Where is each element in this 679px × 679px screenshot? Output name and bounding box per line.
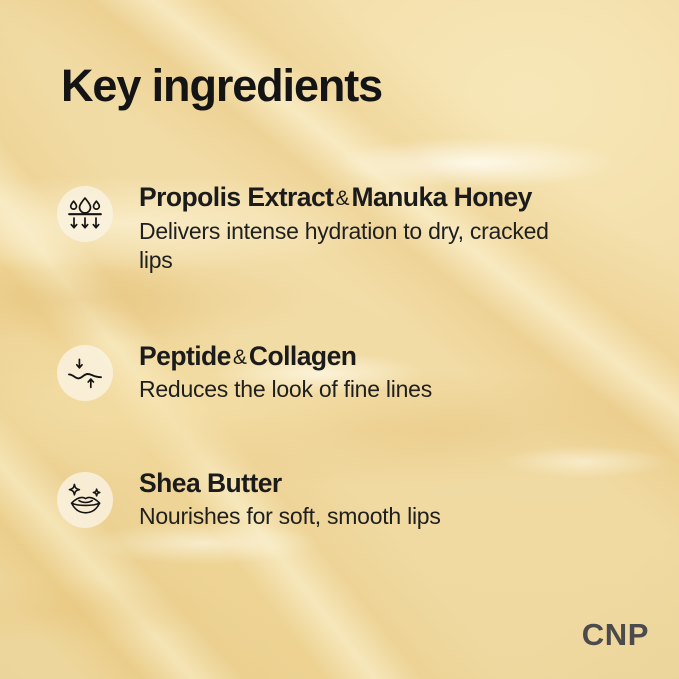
- ingredient-list: Propolis Extract&Manuka Honey Delivers i…: [57, 183, 637, 532]
- key-ingredients-poster: Key ingredients: [0, 0, 679, 679]
- ingredient-title-conjunction: &: [333, 187, 351, 210]
- ingredient-text-block: Propolis Extract&Manuka Honey Delivers i…: [139, 183, 569, 276]
- ingredient-title-secondary: Collagen: [249, 341, 357, 371]
- water-drops-absorb-icon: [67, 197, 103, 231]
- brand-logo: CNP: [582, 617, 649, 653]
- ingredient-text-block: Shea Butter Nourishes for soft, smooth l…: [139, 469, 441, 532]
- ingredient-item: Propolis Extract&Manuka Honey Delivers i…: [57, 183, 637, 276]
- wavy-line-smoothing-icon: [67, 356, 103, 390]
- ingredient-text-block: Peptide&Collagen Reduces the look of fin…: [139, 342, 432, 405]
- ingredient-title-primary: Peptide: [139, 341, 231, 371]
- ingredient-title-secondary: Manuka Honey: [351, 182, 531, 212]
- poster-content: Key ingredients: [0, 0, 679, 679]
- ingredient-icon-badge: [57, 472, 113, 528]
- ingredient-title-primary: Propolis Extract: [139, 182, 333, 212]
- ingredient-title-conjunction: [282, 473, 286, 496]
- ingredient-description: Reduces the look of fine lines: [139, 375, 432, 404]
- ingredient-description: Delivers intense hydration to dry, crack…: [139, 217, 569, 276]
- ingredient-title: Shea Butter: [139, 469, 441, 499]
- ingredient-item: Shea Butter Nourishes for soft, smooth l…: [57, 469, 637, 532]
- page-title: Key ingredients: [61, 63, 382, 108]
- ingredient-title-conjunction: &: [231, 346, 249, 369]
- ingredient-item: Peptide&Collagen Reduces the look of fin…: [57, 342, 637, 405]
- ingredient-icon-badge: [57, 345, 113, 401]
- sparkling-lips-icon: [67, 483, 103, 517]
- ingredient-description: Nourishes for soft, smooth lips: [139, 502, 441, 531]
- ingredient-title: Propolis Extract&Manuka Honey: [139, 183, 569, 213]
- ingredient-title-primary: Shea Butter: [139, 468, 282, 498]
- ingredient-icon-badge: [57, 186, 113, 242]
- ingredient-title: Peptide&Collagen: [139, 342, 432, 372]
